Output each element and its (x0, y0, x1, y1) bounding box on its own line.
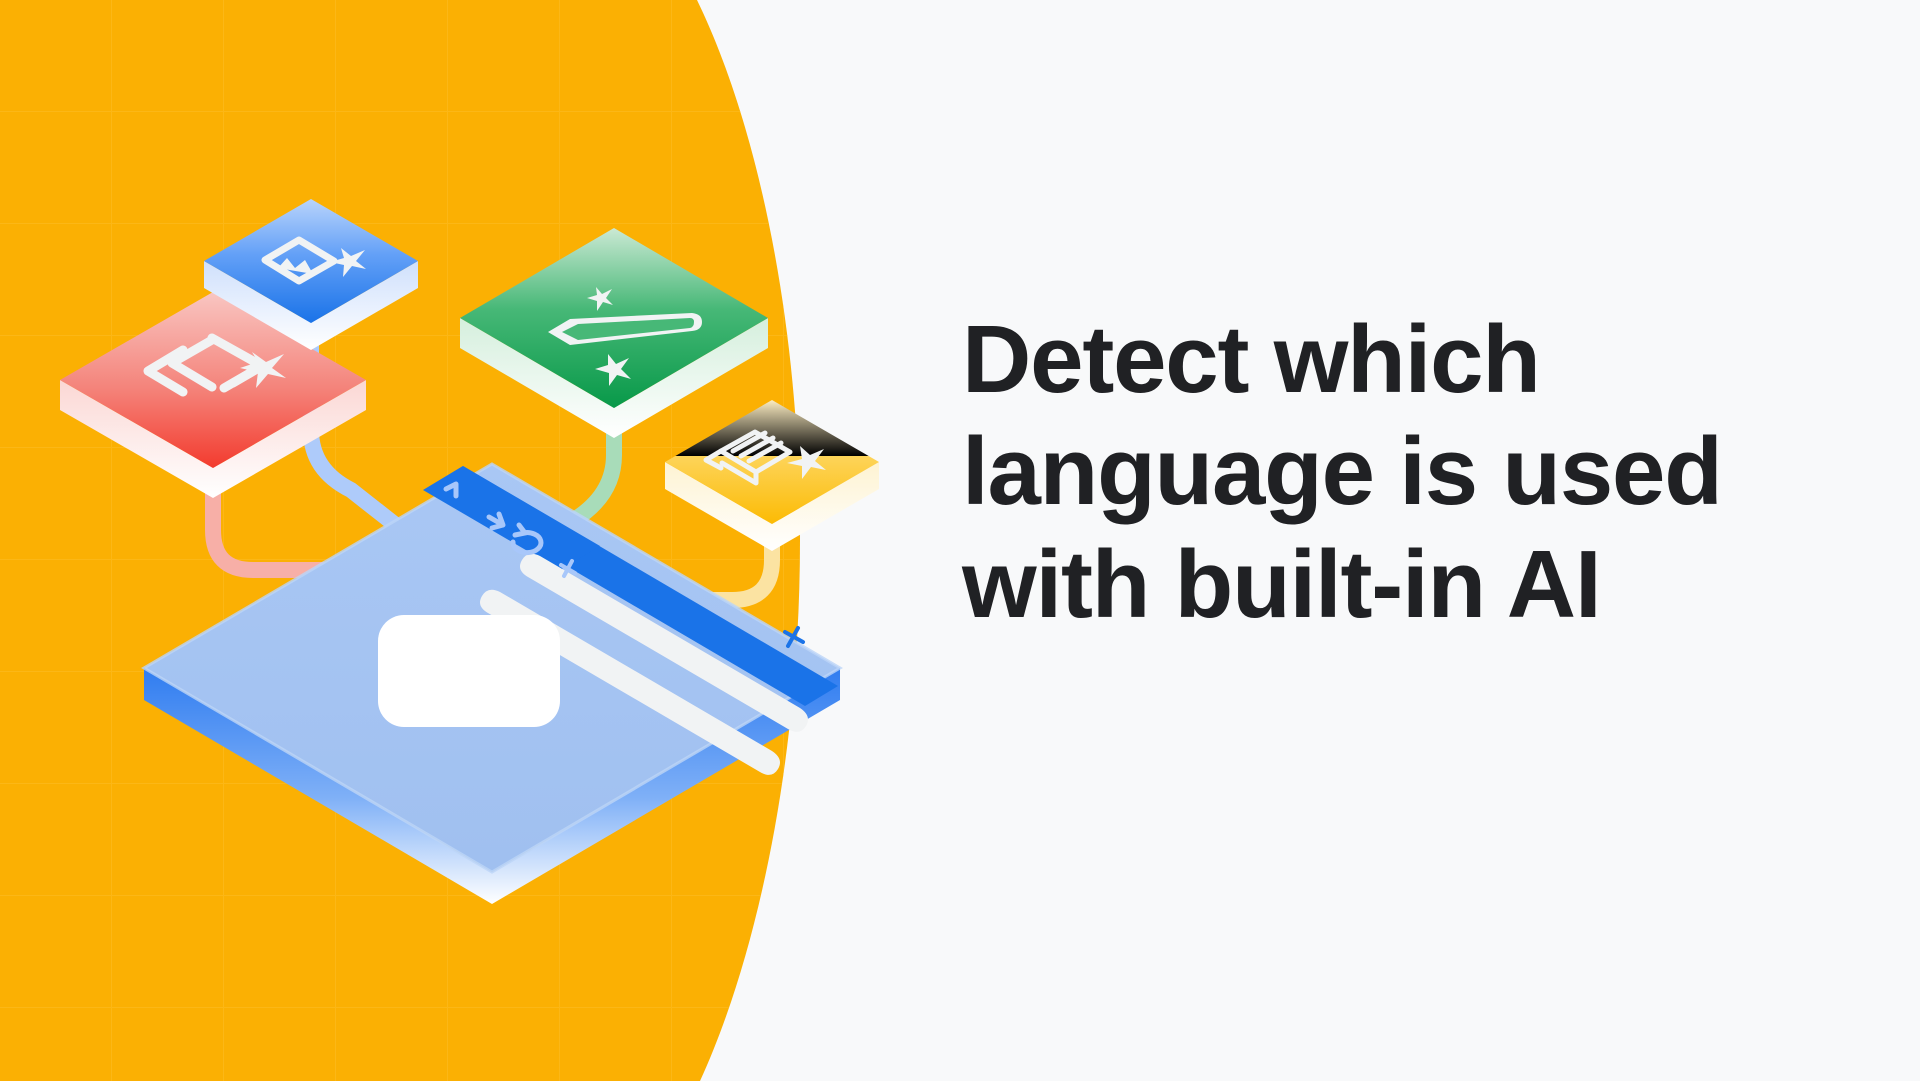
headline-block: Detect which language is used with built… (962, 304, 1792, 641)
tile-summarizer[interactable] (665, 400, 879, 551)
isometric-illustration (0, 0, 900, 1081)
page-title: Detect which language is used with built… (962, 304, 1792, 641)
tile-writer[interactable] (460, 228, 768, 438)
central-output-card (378, 615, 560, 727)
slide-canvas: Detect which language is used with built… (0, 0, 1920, 1081)
orange-panel (0, 0, 900, 1081)
